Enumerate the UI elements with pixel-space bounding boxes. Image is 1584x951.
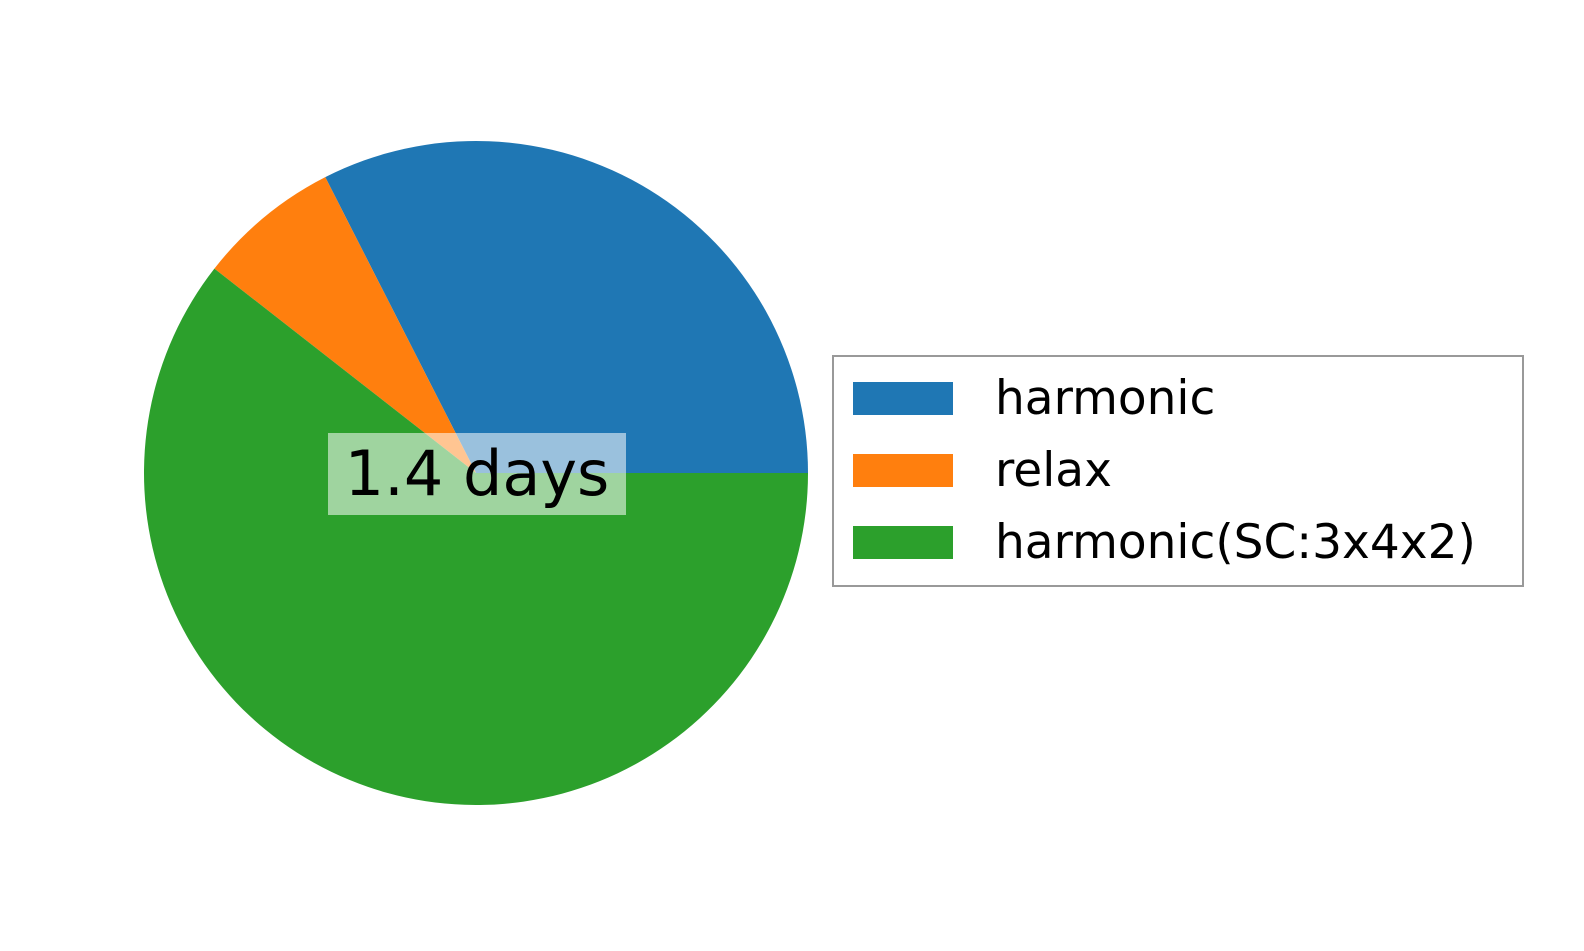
legend-label: harmonic(SC:3x4x2) (995, 519, 1476, 566)
legend-entry[interactable]: harmonic (853, 381, 1215, 415)
legend-entry-list: harmonicrelaxharmonic(SC:3x4x2) (834, 357, 1522, 585)
legend-swatch-icon (853, 382, 953, 415)
center-total-label: 1.4 days (328, 433, 626, 515)
center-total-text: 1.4 days (345, 443, 610, 505)
legend-label: relax (995, 447, 1112, 494)
legend-entry[interactable]: relax (853, 453, 1112, 487)
legend-label: harmonic (995, 375, 1215, 422)
legend: harmonicrelaxharmonic(SC:3x4x2) (832, 355, 1524, 587)
legend-swatch-icon (853, 526, 953, 559)
figure-canvas: harmonicrelaxharmonic(SC:3x4x2) 1.4 days… (0, 0, 1584, 951)
legend-swatch-icon (853, 454, 953, 487)
legend-entry[interactable]: harmonic(SC:3x4x2) (853, 525, 1476, 559)
